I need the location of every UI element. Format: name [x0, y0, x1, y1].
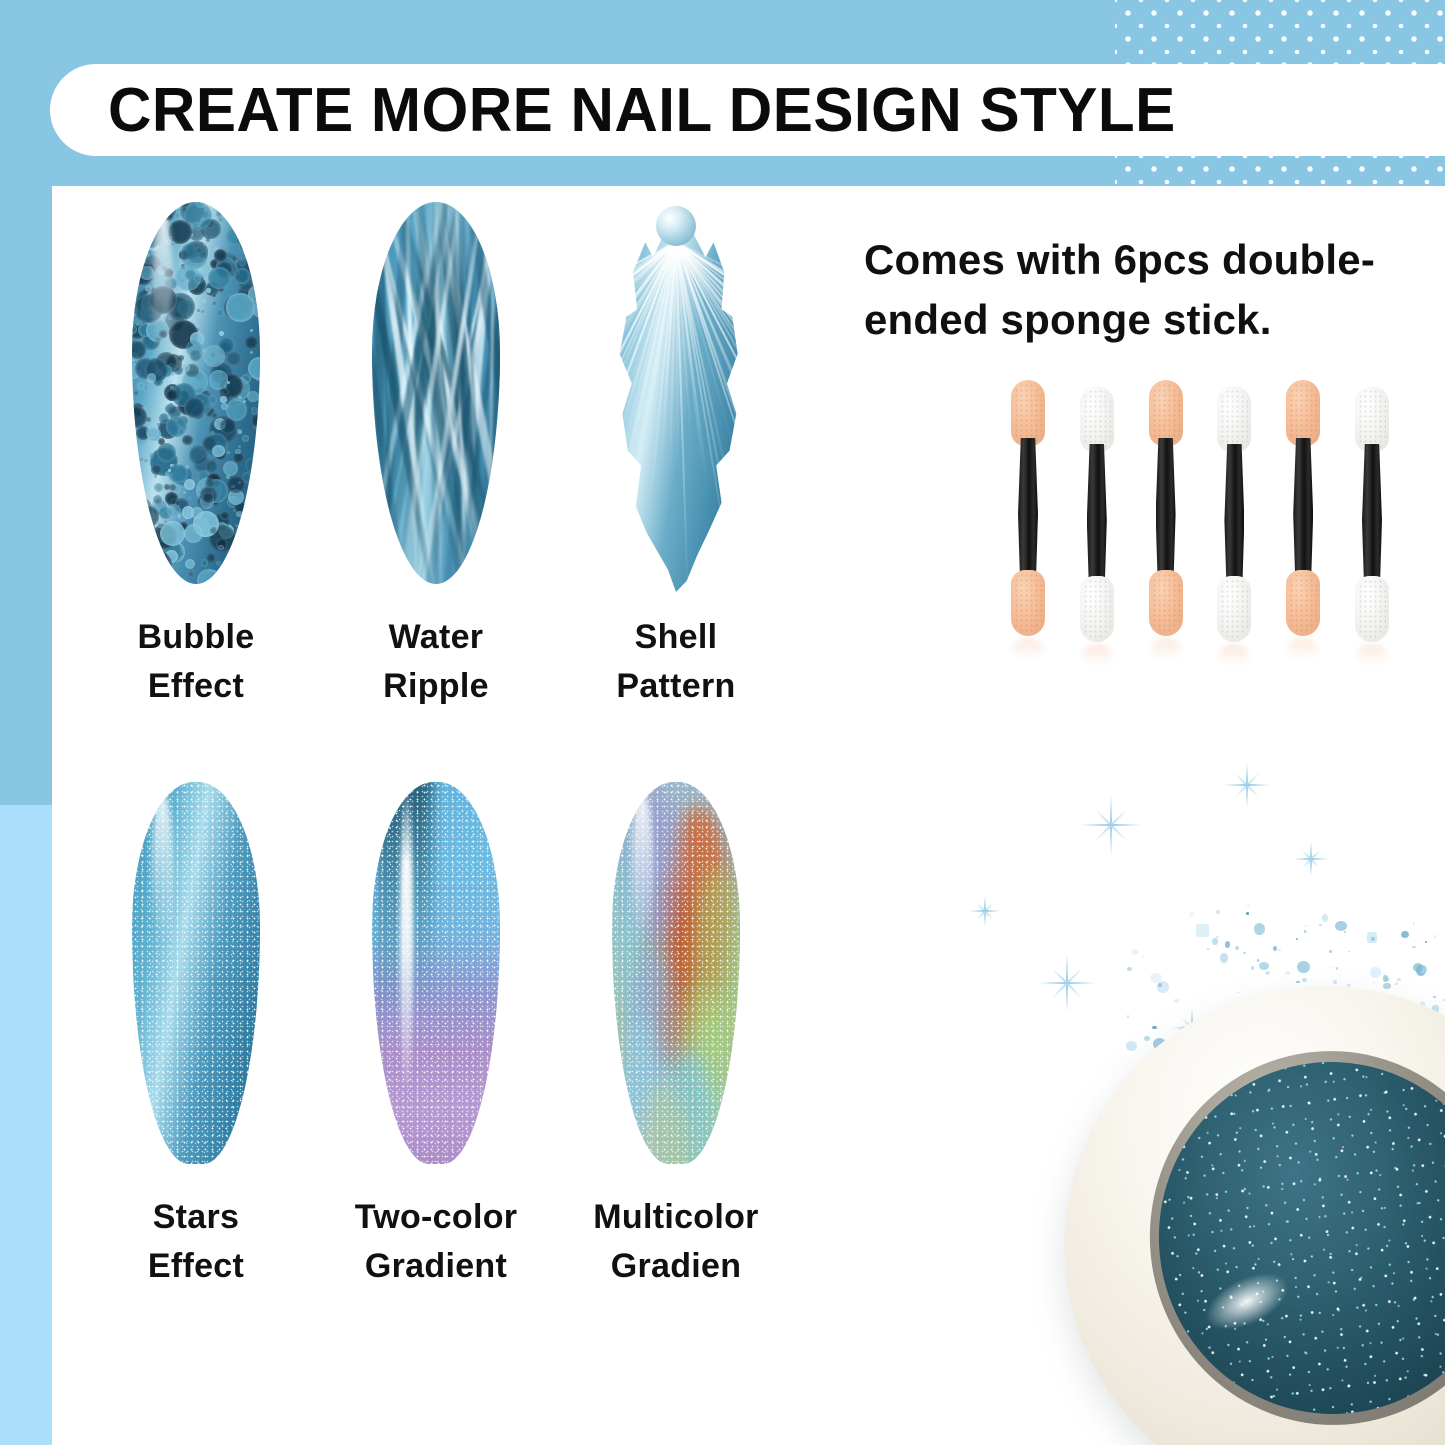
- sponge-stick[interactable]: [1079, 386, 1115, 666]
- bubble-dot: [224, 562, 227, 565]
- bubble-dot: [152, 551, 170, 569]
- glitter-speck: [1174, 999, 1179, 1003]
- bubble-dot: [249, 502, 260, 515]
- bubble-dot: [202, 492, 214, 504]
- sponge-texture: [1358, 579, 1386, 639]
- stick-reflection: [1013, 638, 1043, 660]
- bubble-dot: [152, 548, 155, 551]
- glitter-speck: [1372, 982, 1374, 984]
- bubble-dot: [146, 417, 151, 422]
- promo-line-1: Comes with 6pcs double-: [864, 230, 1404, 290]
- sponge-stick[interactable]: [1010, 380, 1046, 660]
- glitter-speck: [1127, 1015, 1129, 1017]
- nail-label-line2: Gradien: [593, 1242, 758, 1291]
- water-ripple-nail-art: [361, 202, 511, 597]
- bubble-dot: [147, 204, 151, 208]
- bubble-dot: [222, 389, 228, 395]
- glitter-speck: [1425, 941, 1427, 943]
- nail-label: Stars Effect: [148, 1193, 244, 1292]
- bubble-dot: [253, 452, 256, 455]
- sponge-texture: [1358, 389, 1386, 449]
- bubble-dot: [250, 351, 253, 354]
- bubble-dot: [168, 469, 171, 472]
- bubble-dot: [146, 425, 160, 439]
- glitter-speck: [1216, 910, 1220, 914]
- glitter-speck: [1348, 951, 1350, 952]
- sponge-tip-top: [1149, 380, 1183, 446]
- bubble-dot: [206, 288, 211, 293]
- glitter-speck: [1220, 953, 1228, 963]
- sparkle-star-icon: [1038, 954, 1096, 1012]
- glitter-speck: [1304, 930, 1306, 933]
- bubble-dot: [182, 435, 193, 446]
- bubble-dot: [212, 445, 225, 458]
- bubble-dot: [239, 259, 246, 266]
- bubble-dot: [219, 331, 224, 336]
- bubble-dot: [223, 461, 238, 476]
- bubble-dot: [132, 535, 136, 539]
- bubble-dot: [205, 460, 218, 473]
- bubble-dot: [157, 443, 176, 462]
- bubble-dot: [176, 214, 179, 217]
- bubble-dot: [242, 435, 249, 442]
- glitter-speck: [1386, 978, 1391, 981]
- stick-reflection: [1288, 638, 1318, 660]
- bubble-dot: [201, 559, 209, 567]
- bubble-dot: [235, 270, 239, 274]
- bubble-dot: [238, 211, 241, 214]
- bubble-dot: [212, 293, 216, 297]
- glitter-speck: [1397, 978, 1401, 981]
- glitter-speck: [1370, 967, 1381, 977]
- glitter-speck: [1336, 967, 1338, 969]
- glitter-speck: [1297, 961, 1309, 973]
- bubble-dot: [227, 451, 230, 454]
- bubble-dot: [153, 495, 162, 504]
- bubble-dot: [164, 212, 173, 221]
- glitter-speck: [1367, 932, 1377, 943]
- bubble-dot: [139, 223, 164, 248]
- nail-label-line2: Pattern: [616, 662, 735, 711]
- bubble-dot: [235, 260, 238, 263]
- bubble-dot: [227, 476, 244, 493]
- bubble-dot: [213, 302, 217, 306]
- nail-sample-water-ripple[interactable]: Water Ripple: [316, 202, 556, 712]
- nail-label-line1: Multicolor: [593, 1193, 758, 1242]
- glitter-speck: [1265, 972, 1268, 974]
- page-title: CREATE MORE NAIL DESIGN STYLE: [108, 75, 1176, 146]
- bubble-dot: [220, 396, 227, 403]
- bubble-dot: [154, 483, 163, 492]
- bubble-dot: [218, 545, 223, 550]
- bubble-dot: [185, 559, 195, 569]
- bubble-dot: [140, 266, 154, 280]
- bubble-dot: [189, 445, 208, 464]
- glitter-speck: [1225, 941, 1230, 947]
- bubble-dot: [151, 464, 162, 475]
- bubble-dot: [166, 416, 187, 437]
- bubble-dot: [188, 496, 192, 500]
- nail-label: Shell Pattern: [616, 613, 735, 712]
- jar-powder-surface: [1136, 1040, 1445, 1437]
- bubble-dot: [178, 428, 185, 435]
- glitter-powder-jar[interactable]: [1064, 986, 1445, 1445]
- bubble-dot: [159, 330, 167, 338]
- glitter-speck: [1150, 973, 1162, 983]
- bubble-dot: [243, 400, 246, 403]
- bubble-dot: [238, 239, 251, 252]
- bubble-dot: [153, 574, 165, 584]
- bubble-dot: [193, 475, 196, 478]
- sponge-texture: [1152, 383, 1180, 443]
- glitter-speck: [1247, 904, 1250, 907]
- promo-line-2: ended sponge stick.: [864, 290, 1404, 350]
- glitter-speck: [1127, 967, 1132, 971]
- shell-rays-texture: [609, 220, 743, 592]
- sponge-tip-top: [1080, 386, 1114, 452]
- bubble-dot: [174, 366, 183, 375]
- glitter-speck: [1416, 965, 1427, 976]
- sponge-texture: [1220, 579, 1248, 639]
- sponge-tip-bottom: [1286, 570, 1320, 636]
- nail-shape: [372, 782, 500, 1164]
- bubble-dot: [253, 258, 256, 261]
- glitter-speck: [1251, 966, 1255, 970]
- glitter-speck: [1433, 996, 1436, 998]
- bubble-dot: [210, 527, 217, 534]
- glitter-speck: [1243, 952, 1245, 954]
- glitter-speck: [1305, 925, 1307, 927]
- bubble-dot: [154, 475, 157, 478]
- powder-sparkle-texture: [1136, 1040, 1445, 1437]
- sponge-tip-bottom: [1355, 576, 1389, 642]
- glitter-speck: [1344, 931, 1346, 933]
- glitter-speck: [1395, 983, 1397, 986]
- glitter-speck: [1189, 912, 1194, 917]
- right-column: Comes with 6pcs double- ended sponge sti…: [842, 186, 1445, 1445]
- glitter-speck: [1285, 971, 1290, 974]
- sponge-stick-promo-text: Comes with 6pcs double- ended sponge sti…: [864, 230, 1404, 349]
- bubble-dot: [197, 309, 200, 312]
- sponge-texture: [1014, 383, 1042, 443]
- bubble-dot: [240, 363, 244, 367]
- bubble-dot: [133, 539, 143, 549]
- bubble-dot: [184, 479, 196, 491]
- nail-label-line1: Water: [383, 613, 489, 662]
- glitter-texture: [612, 782, 740, 1164]
- sparkle-star-icon: [970, 896, 1000, 926]
- shell-ray: [675, 242, 791, 593]
- bubble-dot: [211, 412, 218, 419]
- stick-reflection: [1219, 644, 1249, 666]
- bubble-dot: [255, 548, 260, 557]
- nail-samples-grid: Bubble Effect Water Ripple: [76, 202, 806, 1291]
- bubble-dot: [251, 407, 258, 414]
- bubble-dot: [144, 459, 148, 463]
- glitter-speck: [1434, 935, 1436, 937]
- glitter-speck: [1278, 949, 1281, 951]
- glitter-speck: [1126, 1041, 1137, 1051]
- glitter-speck: [1257, 959, 1259, 962]
- glitter-speck: [1158, 983, 1162, 987]
- sparkle-star-icon: [1080, 794, 1142, 856]
- glitter-speck: [1259, 962, 1268, 969]
- bubble-dot: [255, 557, 260, 563]
- bubble-effect-nail-art: [121, 202, 271, 597]
- sponge-tip-bottom: [1149, 570, 1183, 636]
- glitter-speck: [1302, 978, 1307, 981]
- sponge-stick[interactable]: [1285, 380, 1321, 660]
- glitter-speck: [1296, 981, 1300, 983]
- bubble-dot: [253, 281, 260, 289]
- bubble-dot: [135, 555, 140, 560]
- bubble-dot: [134, 233, 137, 236]
- glitter-speck: [1383, 973, 1385, 976]
- bubble-dot: [169, 484, 176, 491]
- bubble-dot: [149, 286, 177, 314]
- sponge-tip-bottom: [1011, 570, 1045, 636]
- nail-row-2: Stars Effect Two-color: [76, 782, 806, 1292]
- glitter-speck: [1330, 967, 1332, 968]
- sponge-tip-bottom: [1080, 576, 1114, 642]
- nail-shape: [132, 782, 260, 1164]
- glitter-speck: [1196, 924, 1209, 937]
- sponge-stick[interactable]: [1354, 386, 1390, 666]
- glitter-speck: [1383, 983, 1391, 989]
- header-banner: CREATE MORE NAIL DESIGN STYLE: [50, 64, 1445, 156]
- glitter-speck: [1347, 984, 1351, 986]
- bubble-dot: [225, 446, 228, 449]
- bubble-dot: [202, 349, 205, 352]
- glitter-speck: [1339, 975, 1341, 976]
- sponge-tip-top: [1286, 380, 1320, 446]
- sponge-texture: [1083, 579, 1111, 639]
- pearl-accent: [656, 206, 696, 246]
- sponge-tip-top: [1011, 380, 1045, 446]
- sponge-texture: [1152, 573, 1180, 633]
- nail-sample-multicolor-gradien[interactable]: Multicolor Gradien: [556, 782, 796, 1292]
- nail-shape: [132, 202, 260, 584]
- bubble-dot: [202, 299, 206, 303]
- bubble-dot: [140, 458, 143, 461]
- bubble-dot: [183, 491, 186, 494]
- nail-label-line1: Stars: [148, 1193, 244, 1242]
- nail-sample-shell-pattern[interactable]: Shell Pattern: [556, 202, 796, 712]
- bubble-dot: [137, 382, 145, 390]
- glitter-speck: [1142, 956, 1144, 957]
- glitter-speck: [1296, 938, 1298, 940]
- nail-sample-bubble-effect[interactable]: Bubble Effect: [76, 202, 316, 712]
- glitter-speck: [1417, 975, 1419, 977]
- bubble-dot: [236, 511, 243, 518]
- nail-row-1: Bubble Effect Water Ripple: [76, 202, 806, 712]
- bubble-dot: [132, 341, 146, 358]
- sponge-stick[interactable]: [1216, 386, 1252, 666]
- glitter-speck: [1237, 992, 1240, 994]
- bubble-dot: [218, 217, 223, 222]
- glitter-speck: [1132, 949, 1138, 956]
- bubble-dot: [245, 457, 260, 473]
- nail-sample-two-color-gradient[interactable]: Two-color Gradient: [316, 782, 556, 1292]
- nail-sample-stars-effect[interactable]: Stars Effect: [76, 782, 316, 1292]
- bubble-dot: [251, 413, 260, 428]
- bubble-dot: [134, 391, 138, 395]
- nail-label-line1: Two-color: [355, 1193, 518, 1242]
- bubble-dot: [235, 449, 241, 455]
- shell-pattern-nail-art: [601, 202, 751, 597]
- glitter-speck: [1306, 931, 1308, 933]
- bubble-dot: [139, 506, 159, 526]
- product-infographic: CREATE MORE NAIL DESIGN STYLE Bubble: [0, 0, 1445, 1445]
- glitter-speck: [1401, 931, 1409, 938]
- bubble-dot: [224, 385, 227, 388]
- glitter-speck: [1329, 950, 1332, 953]
- sponge-texture: [1289, 383, 1317, 443]
- nail-label: Bubble Effect: [137, 613, 254, 712]
- nail-label: Water Ripple: [383, 613, 489, 712]
- bubble-dot: [223, 567, 227, 571]
- glitter-speck: [1333, 980, 1337, 984]
- bubble-dot: [242, 549, 254, 561]
- bubble-dot: [247, 391, 258, 402]
- stick-reflection: [1357, 644, 1387, 666]
- bubble-dot: [155, 337, 161, 343]
- glitter-texture: [132, 782, 260, 1164]
- glitter-speck: [1383, 975, 1389, 982]
- shell-body: [609, 220, 743, 592]
- bubble-dot: [242, 572, 254, 584]
- bubble-dot: [184, 397, 205, 418]
- bubble-dot: [208, 267, 231, 290]
- glitter-speck: [1216, 936, 1219, 938]
- sponge-texture: [1220, 389, 1248, 449]
- bubble-dot: [245, 336, 258, 349]
- sponge-tip-bottom: [1217, 576, 1251, 642]
- sparkle-star-icon: [1294, 842, 1328, 876]
- glitter-speck: [1322, 914, 1328, 922]
- bubble-dot: [151, 214, 154, 217]
- nail-label-line1: Bubble: [137, 613, 254, 662]
- nail-shape: [601, 202, 751, 594]
- glitter-speck: [1152, 1026, 1157, 1029]
- bubble-dot: [147, 373, 156, 382]
- bubble-dot: [162, 266, 167, 271]
- glitter-speck: [1412, 946, 1416, 948]
- glitter-speck: [1144, 1036, 1150, 1041]
- bubble-dot: [178, 514, 182, 518]
- bubble-dot: [235, 524, 239, 528]
- bubble-dot: [160, 521, 185, 546]
- glitter-speck: [1157, 981, 1169, 993]
- nail-label-line2: Gradient: [355, 1242, 518, 1291]
- glitter-texture: [372, 782, 500, 1164]
- bubble-dot: [238, 528, 241, 531]
- glitter-speck: [1413, 963, 1423, 972]
- bubble-dot: [188, 571, 195, 578]
- glitter-speck: [1413, 922, 1415, 924]
- bubble-dot: [132, 497, 134, 500]
- bubble-dot: [184, 524, 203, 543]
- bubble-texture: [132, 202, 260, 584]
- stick-reflection: [1151, 638, 1181, 660]
- bubble-dot: [171, 241, 175, 245]
- glitter-speck: [1371, 937, 1375, 941]
- sponge-texture: [1289, 573, 1317, 633]
- sponge-stick[interactable]: [1148, 380, 1184, 660]
- sponge-tip-top: [1355, 386, 1389, 452]
- ripple-texture: [372, 202, 500, 584]
- sponge-stick-group: [1010, 380, 1390, 670]
- stars-effect-nail-art: [121, 782, 271, 1177]
- stick-reflection: [1082, 644, 1112, 666]
- bubble-dot: [195, 247, 202, 254]
- bubble-dot: [137, 211, 140, 214]
- glitter-speck: [1212, 938, 1217, 944]
- bubble-dot: [238, 430, 243, 435]
- multicolor-gradient-nail-art: [601, 782, 751, 1177]
- sponge-texture: [1014, 573, 1042, 633]
- bubble-dot: [250, 329, 253, 332]
- jar-rim: [1126, 1027, 1445, 1445]
- glitter-speck: [1420, 965, 1427, 974]
- bubble-dot: [220, 511, 229, 520]
- glitter-speck: [1319, 924, 1322, 926]
- bubble-dot: [216, 561, 221, 566]
- bubble-dot: [248, 488, 260, 500]
- nail-label: Multicolor Gradien: [593, 1193, 758, 1292]
- content-panel: Bubble Effect Water Ripple: [52, 186, 1445, 1445]
- glitter-speck: [1235, 946, 1238, 950]
- glitter-speck: [1266, 971, 1269, 975]
- glitter-speck: [1335, 921, 1347, 931]
- glitter-speck: [1207, 948, 1209, 950]
- bubble-dot: [186, 340, 202, 356]
- glitter-speck: [1246, 912, 1248, 914]
- two-color-gradient-nail-art: [361, 782, 511, 1177]
- sparkle-star-icon: [1224, 762, 1270, 808]
- sponge-texture: [1083, 389, 1111, 449]
- glitter-speck: [1273, 946, 1277, 951]
- bubble-dot: [249, 481, 254, 486]
- nail-shape: [612, 782, 740, 1164]
- nail-label-line2: Ripple: [383, 662, 489, 711]
- bubble-dot: [169, 236, 172, 239]
- bubble-dot: [201, 310, 204, 313]
- nail-label-line2: Effect: [148, 1242, 244, 1291]
- nail-label-line2: Effect: [137, 662, 254, 711]
- bubble-dot: [215, 202, 230, 214]
- nail-label-line1: Shell: [616, 613, 735, 662]
- glitter-speck: [1254, 923, 1266, 935]
- bubble-dot: [132, 205, 137, 214]
- nail-shape: [372, 202, 500, 584]
- nail-label: Two-color Gradient: [355, 1193, 518, 1292]
- sponge-tip-top: [1217, 386, 1251, 452]
- bubble-dot: [226, 293, 254, 321]
